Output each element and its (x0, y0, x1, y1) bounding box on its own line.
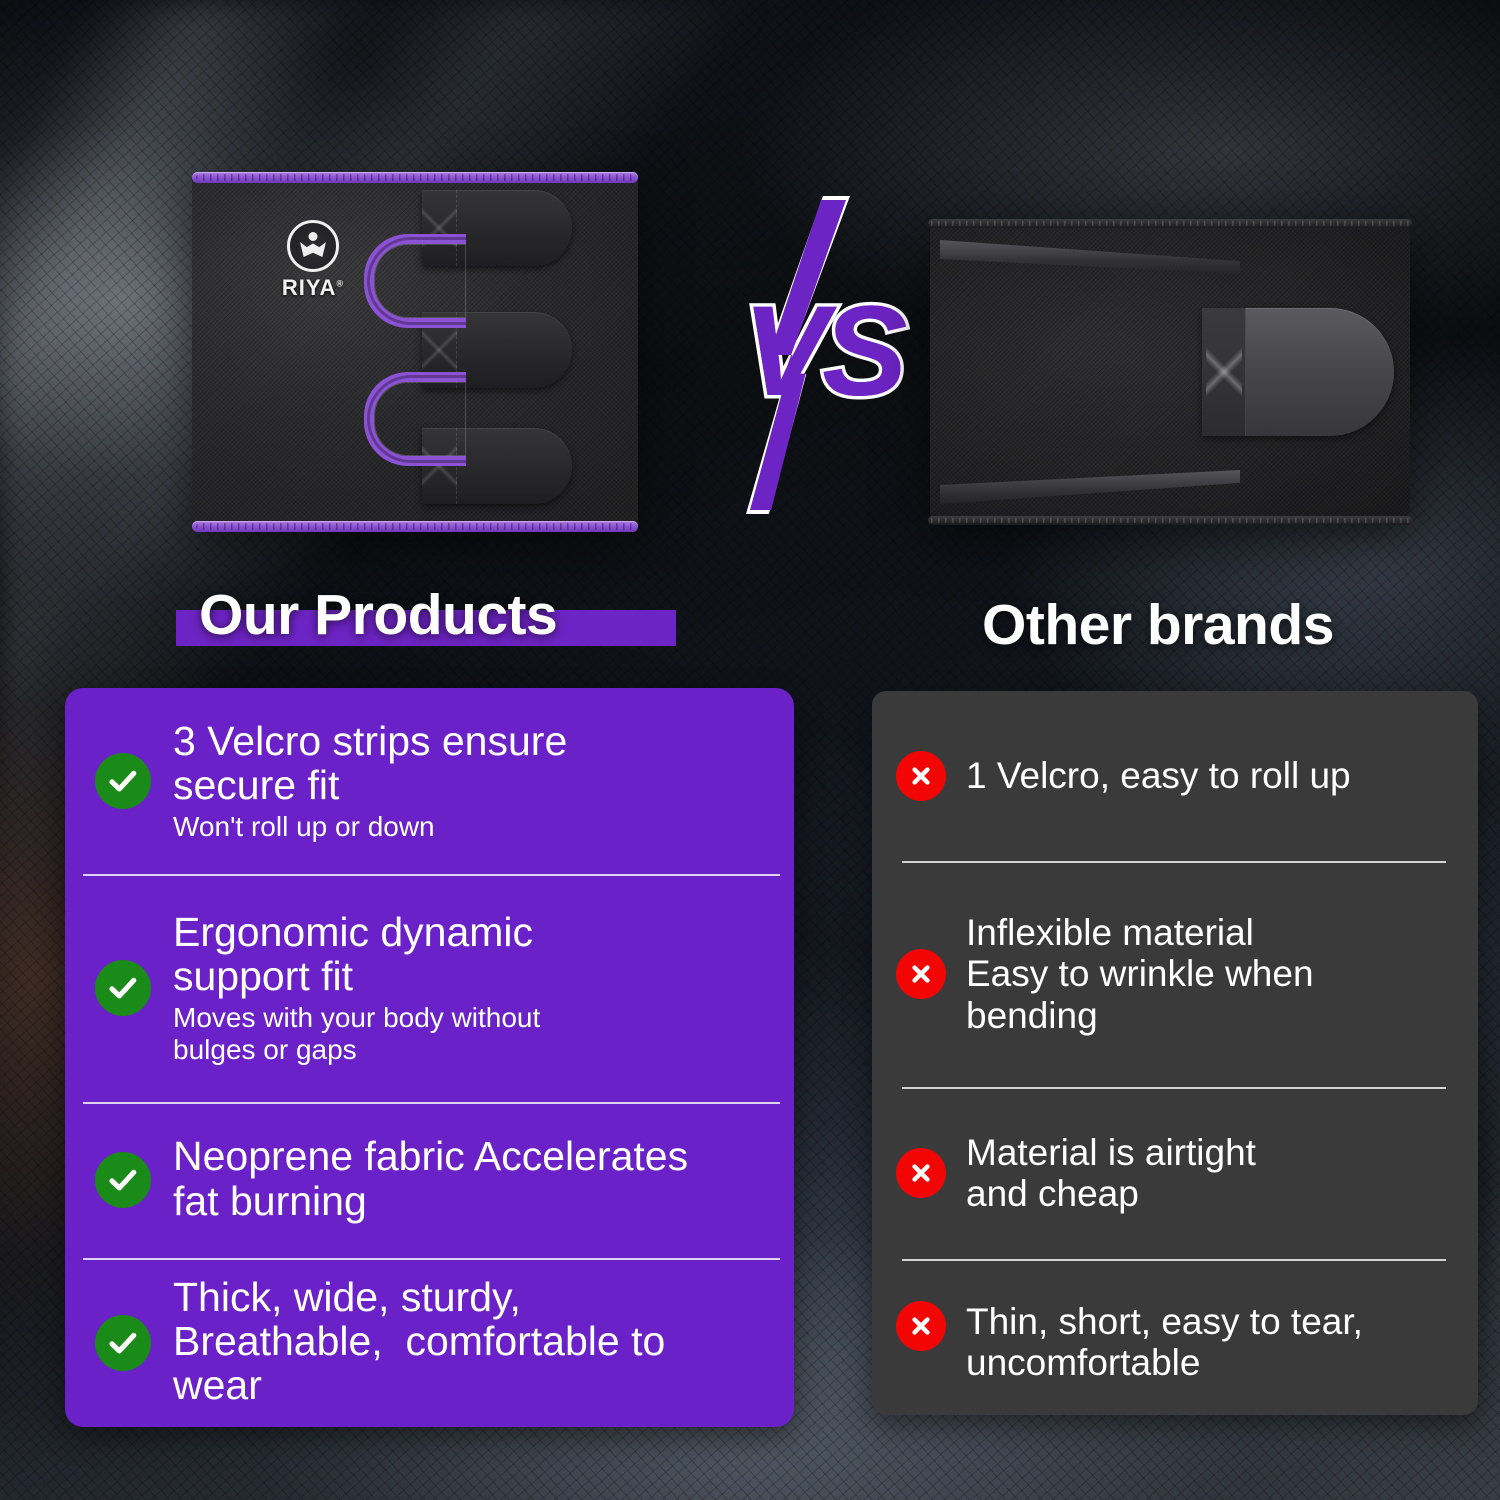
list-item-title: Material is airtight and cheap (966, 1132, 1306, 1215)
cross-circle-icon (896, 949, 946, 999)
check-circle-icon (95, 753, 151, 809)
list-item-title: Thin, short, easy to tear, uncomfortable (966, 1301, 1446, 1384)
list-item-title: Thick, wide, sturdy, Breathable, comfort… (173, 1275, 733, 1408)
list-item: 1 Velcro, easy to roll up (872, 691, 1478, 861)
our-product-image: RIYA® (192, 172, 638, 532)
list-item-text: 1 Velcro, easy to roll up (966, 755, 1351, 796)
other-belt-edge-bottom (928, 516, 1412, 525)
other-brand-product-image (930, 222, 1410, 522)
list-item-title: 3 Velcro strips ensure secure fit (173, 719, 643, 808)
purple-trim-wave-upper (364, 234, 466, 328)
list-item: 3 Velcro strips ensure secure fit Won't … (65, 688, 794, 874)
riya-emblem-icon (287, 220, 339, 272)
list-divider (902, 861, 1446, 863)
cross-circle-icon (896, 1301, 946, 1351)
check-circle-icon (95, 960, 151, 1016)
list-item-text: Ergonomic dynamic support fit Moves with… (173, 910, 613, 1066)
purple-trim-top (192, 172, 638, 183)
list-item: Thin, short, easy to tear, uncomfortable (872, 1259, 1478, 1415)
comparison-infographic: RIYA® VS VS Our Products Other brands 3 (0, 0, 1500, 1500)
other-belt-edge-top (928, 219, 1412, 228)
list-item-title: Ergonomic dynamic support fit (173, 910, 613, 999)
list-item-title: Inflexible material Easy to wrinkle when… (966, 912, 1336, 1036)
list-item-text: 3 Velcro strips ensure secure fit Won't … (173, 719, 643, 843)
list-item: Neoprene fabric Accelerates fat burning (65, 1102, 794, 1258)
list-item: Material is airtight and cheap (872, 1087, 1478, 1259)
list-item-subtitle: Won't roll up or down (173, 811, 643, 843)
our-products-feature-list: 3 Velcro strips ensure secure fit Won't … (65, 688, 794, 1427)
check-circle-icon (95, 1315, 151, 1371)
cross-circle-icon (896, 1148, 946, 1198)
list-item-subtitle: Moves with your body without bulges or g… (173, 1002, 613, 1066)
list-item-text: Inflexible material Easy to wrinkle when… (966, 912, 1336, 1036)
list-item-text: Thin, short, easy to tear, uncomfortable (966, 1301, 1446, 1384)
our-products-card: 3 Velcro strips ensure secure fit Won't … (65, 688, 794, 1427)
list-item-text: Neoprene fabric Accelerates fat burning (173, 1134, 693, 1226)
other-brands-title: Other brands (982, 592, 1334, 658)
list-divider (902, 1259, 1446, 1261)
other-brands-card: 1 Velcro, easy to roll up Inflexible mat… (872, 691, 1478, 1415)
list-divider (83, 1258, 780, 1260)
purple-trim-wave-lower (364, 372, 466, 466)
other-velcro-strap (1202, 308, 1394, 436)
list-item: Thick, wide, sturdy, Breathable, comfort… (65, 1258, 794, 1427)
other-brands-feature-list: 1 Velcro, easy to roll up Inflexible mat… (872, 691, 1478, 1415)
cross-circle-icon (896, 751, 946, 801)
riya-logo: RIYA® (270, 220, 356, 301)
list-item: Inflexible material Easy to wrinkle when… (872, 861, 1478, 1087)
list-item-title: Neoprene fabric Accelerates fat burning (173, 1134, 693, 1223)
list-item: Ergonomic dynamic support fit Moves with… (65, 874, 794, 1102)
our-products-title: Our Products (199, 582, 557, 648)
list-divider (83, 874, 780, 876)
vs-badge: VS VS (712, 200, 932, 510)
riya-wordmark: RIYA® (270, 275, 356, 301)
vs-label: VS (712, 288, 932, 416)
list-divider (83, 1102, 780, 1104)
purple-trim-bottom (192, 521, 638, 532)
check-circle-icon (95, 1152, 151, 1208)
list-item-text: Thick, wide, sturdy, Breathable, comfort… (173, 1275, 733, 1411)
list-item-title: 1 Velcro, easy to roll up (966, 755, 1351, 796)
list-divider (902, 1087, 1446, 1089)
list-item-text: Material is airtight and cheap (966, 1132, 1306, 1215)
